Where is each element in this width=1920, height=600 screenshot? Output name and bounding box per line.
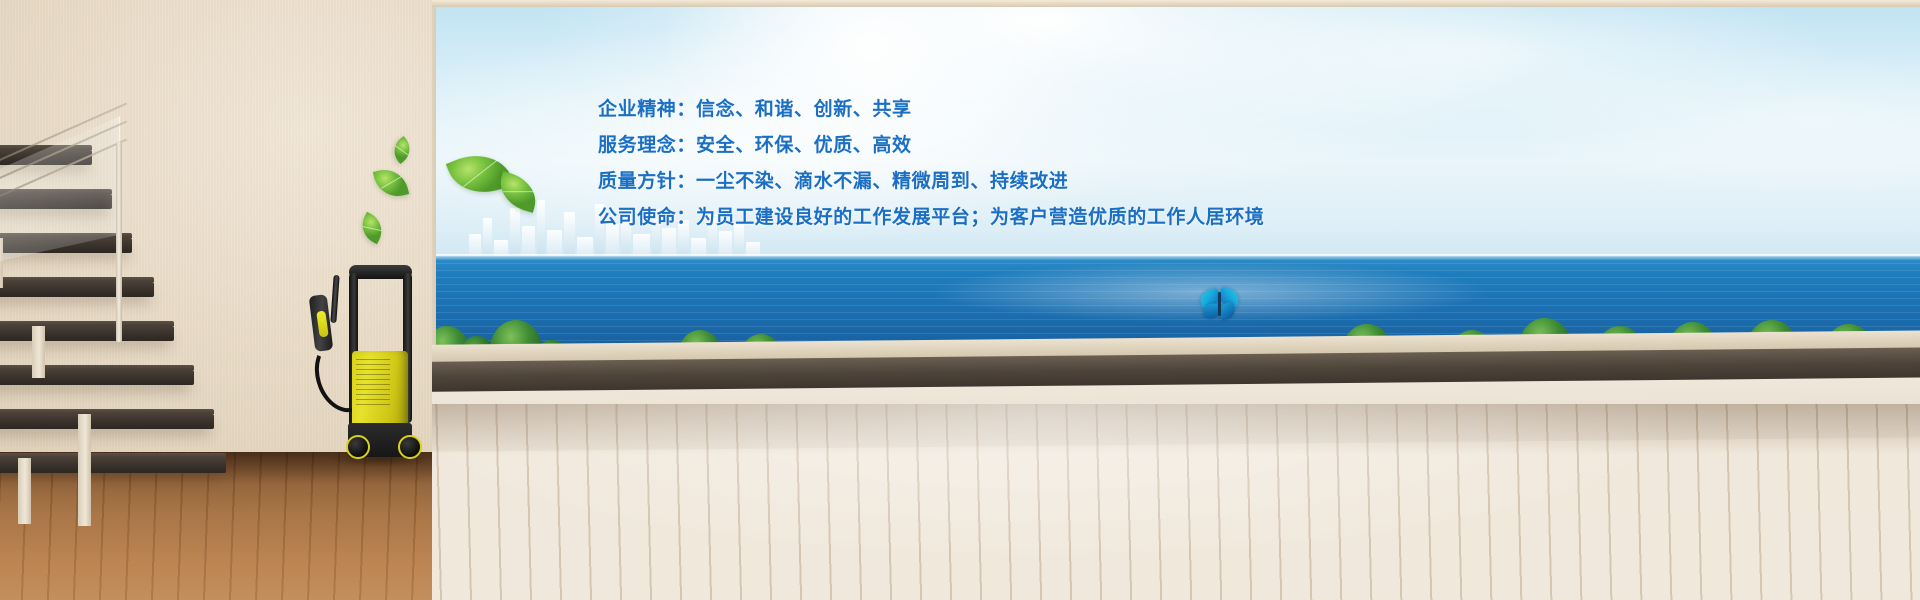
culture-line-mission: 公司使命：为员工建设良好的工作发展平台；为客户营造优质的工作人居环境 bbox=[598, 200, 1398, 236]
horizon-line bbox=[410, 254, 1920, 260]
butterfly-icon bbox=[1200, 288, 1240, 326]
pressure-washer bbox=[306, 255, 434, 463]
floor-sheen bbox=[410, 404, 1920, 600]
washer-lance bbox=[330, 275, 339, 323]
culture-line-quality: 质量方针：一尘不染、滴水不漏、精微周到、持续改进 bbox=[598, 164, 1398, 200]
culture-text-block: 企业精神：信念、和谐、创新、共享 服务理念：安全、环保、优质、高效 质量方针：一… bbox=[598, 92, 1398, 236]
washer-wheel-right bbox=[398, 435, 422, 459]
washer-vents bbox=[356, 359, 390, 405]
culture-line-spirit: 企业精神：信念、和谐、创新、共享 bbox=[598, 92, 1398, 128]
foreground-floor bbox=[410, 404, 1920, 600]
window-frame-top bbox=[410, 0, 1920, 7]
culture-line-service: 服务理念：安全、环保、优质、高效 bbox=[598, 128, 1398, 164]
staircase bbox=[0, 150, 226, 500]
banner-stage: 企业精神：信念、和谐、创新、共享 服务理念：安全、环保、优质、高效 质量方针：一… bbox=[0, 0, 1920, 600]
washer-wheel-left bbox=[346, 435, 370, 459]
butterfly-body bbox=[1218, 292, 1221, 316]
